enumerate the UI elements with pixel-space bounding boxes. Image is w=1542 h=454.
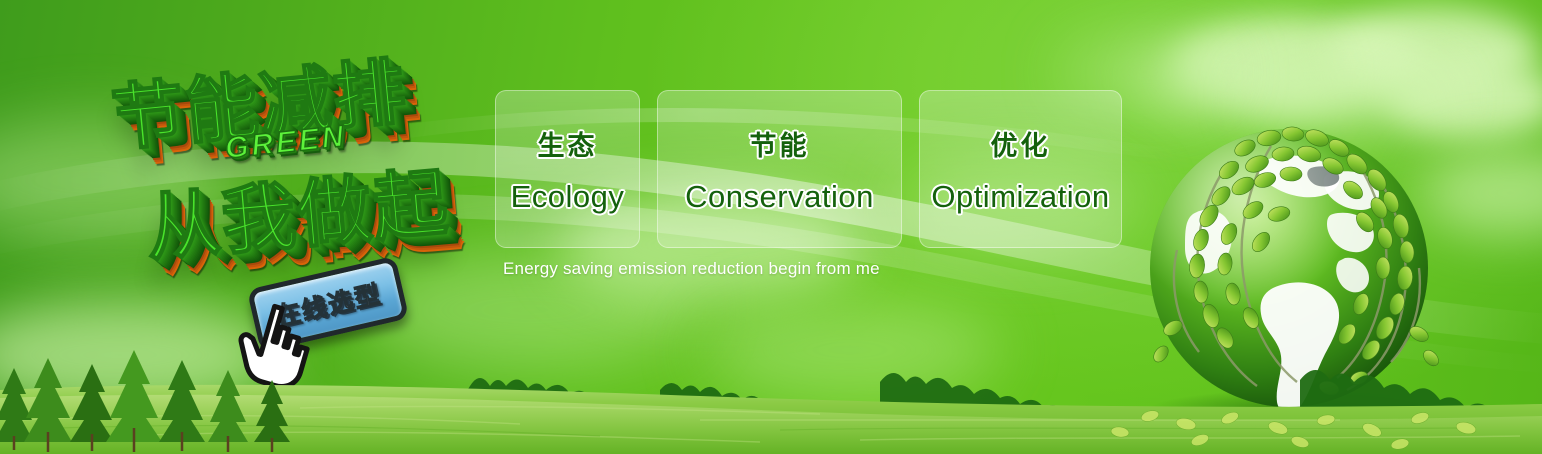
feature-card-ecology[interactable]: 生态 Ecology bbox=[495, 90, 640, 248]
ground-landscape bbox=[0, 324, 1542, 454]
feature-card-list: 生态 Ecology 节能 Conservation 优化 Optimizati… bbox=[495, 90, 1122, 248]
feature-card-cn-label: 优化 bbox=[991, 124, 1051, 163]
feature-card-optimization[interactable]: 优化 Optimization bbox=[919, 90, 1122, 248]
banner-tagline: Energy saving emission reduction begin f… bbox=[503, 259, 880, 279]
eco-hero-banner: 节能减排 GREEN 从我做起 生态 Ecology 节能 Conservati… bbox=[0, 0, 1542, 454]
title-line-top: 节能减排 bbox=[107, 32, 412, 165]
feature-card-en-label: Optimization bbox=[931, 179, 1109, 215]
title-line-green: GREEN bbox=[224, 120, 349, 167]
title-line-bottom: 从我做起 bbox=[141, 143, 453, 276]
hero-3d-title: 节能减排 GREEN 从我做起 bbox=[95, 38, 485, 273]
feature-card-en-label: Conservation bbox=[685, 179, 874, 215]
feature-card-cn-label: 节能 bbox=[750, 124, 810, 163]
feature-card-cn-label: 生态 bbox=[538, 124, 598, 163]
feature-card-en-label: Ecology bbox=[511, 179, 625, 215]
feature-card-conservation[interactable]: 节能 Conservation bbox=[657, 90, 902, 248]
